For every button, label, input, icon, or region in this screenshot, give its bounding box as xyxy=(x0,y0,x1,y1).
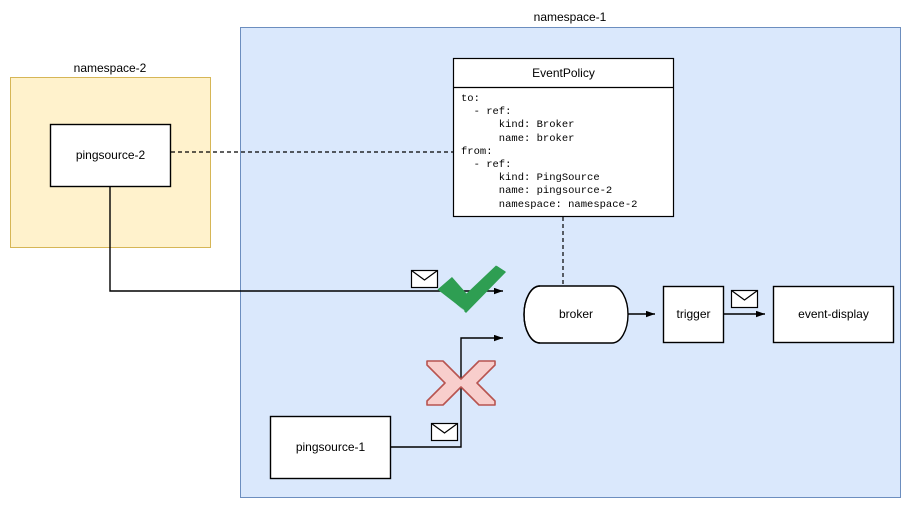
node-pingsource-1[interactable] xyxy=(271,417,391,479)
diagram-canvas xyxy=(0,0,911,508)
envelope-icon-1 xyxy=(412,271,438,288)
envelope-icon-3 xyxy=(432,424,458,441)
node-trigger[interactable] xyxy=(664,287,724,343)
envelope-icon-2 xyxy=(732,291,758,308)
node-event-display[interactable] xyxy=(774,287,894,343)
node-broker[interactable] xyxy=(524,286,628,343)
node-pingsource-2[interactable] xyxy=(51,125,171,187)
event-policy-body: to: - ref: kind: Broker name: broker fro… xyxy=(461,93,671,212)
